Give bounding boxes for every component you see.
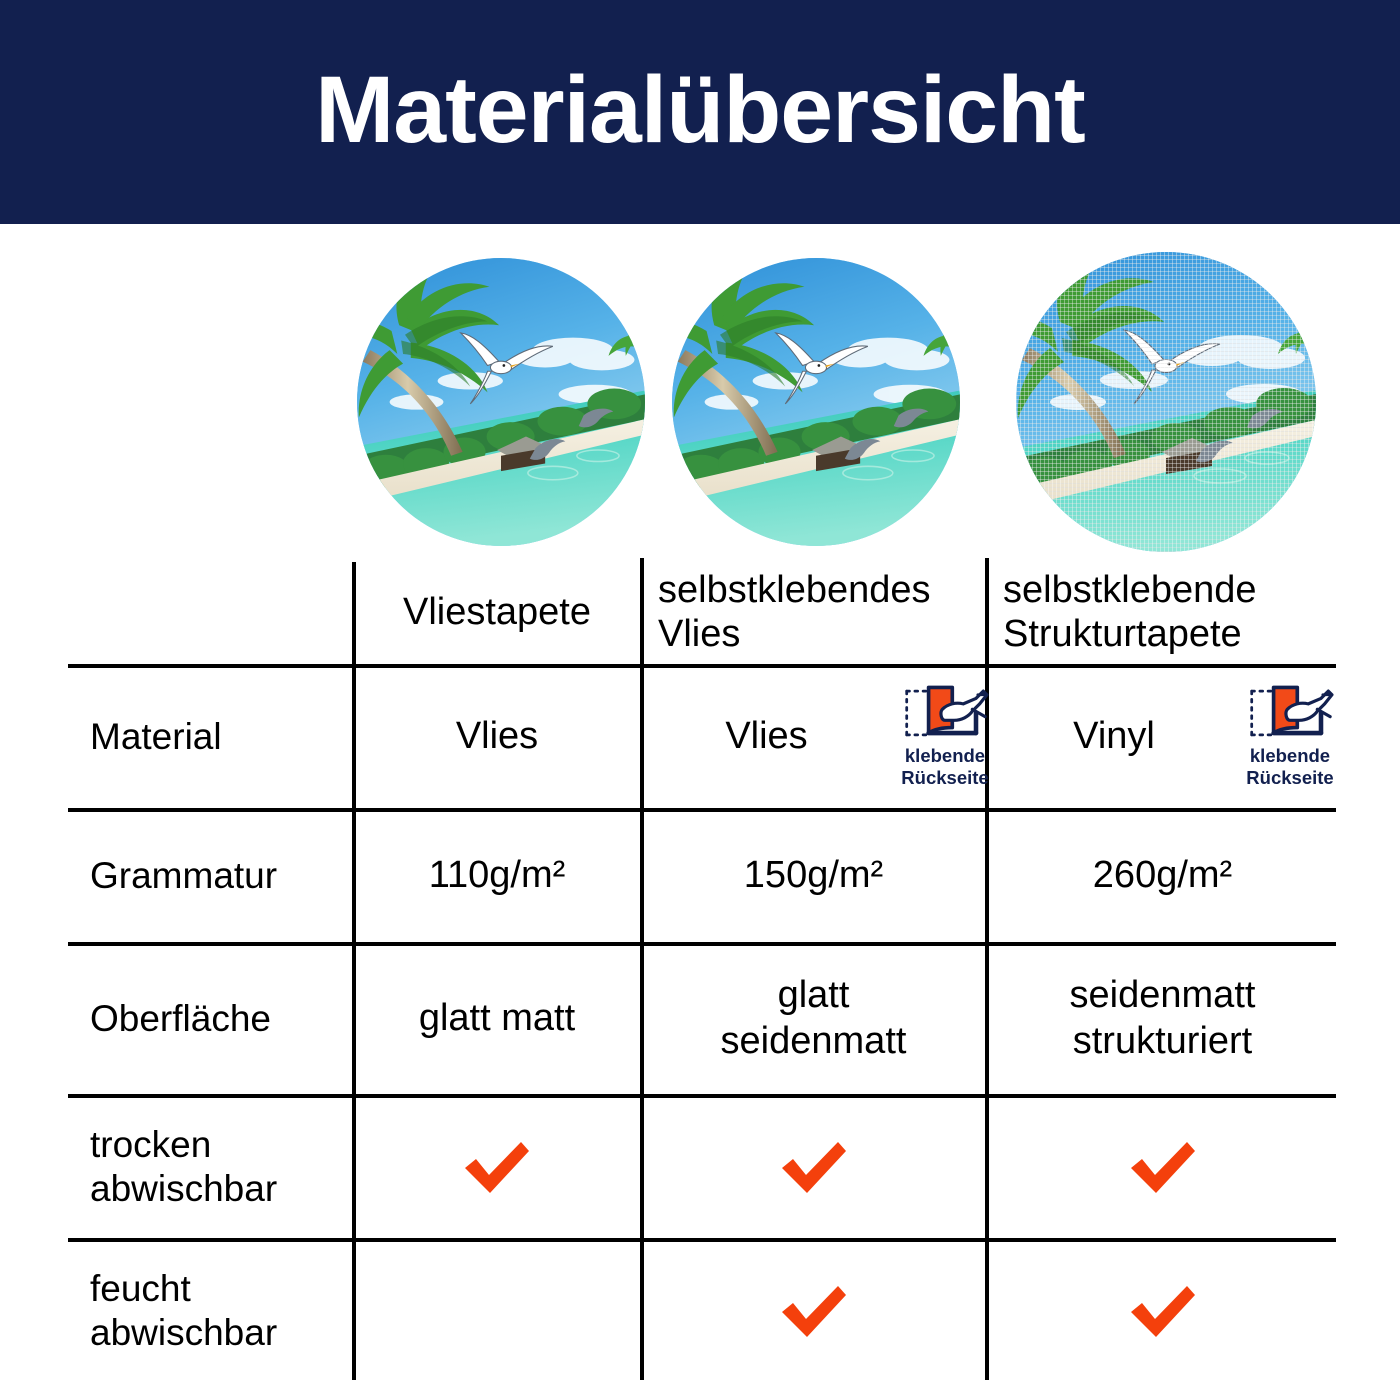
- sample-circle-strukturtapete: [1016, 252, 1316, 552]
- peeling-sheet-hand-icon: [1244, 682, 1336, 744]
- row-label-line1: trocken: [90, 1123, 277, 1167]
- beach-photo-illustration: [672, 258, 960, 546]
- cell-trocken-vliestapete: [356, 1098, 638, 1236]
- cell-value-line1: seidenmatt: [1070, 973, 1256, 1019]
- badge-line2: Rückseite: [891, 767, 999, 788]
- cell-value-line1: glatt: [721, 973, 907, 1019]
- row-label-text: Material: [90, 715, 222, 759]
- beach-photo-illustration: [357, 258, 645, 546]
- badge-line1: klebende: [891, 745, 999, 766]
- cell-feucht-selbstklebendes-vlies: [644, 1242, 983, 1380]
- row-label-line1: feucht: [90, 1267, 277, 1311]
- cell-trocken-strukturtapete: [989, 1098, 1336, 1236]
- column-header-line1: selbstklebendes: [658, 568, 931, 612]
- cell-feucht-vliestapete: [356, 1242, 638, 1380]
- check-icon: [1126, 1281, 1200, 1341]
- column-header-line2: Vlies: [658, 612, 931, 656]
- sample-circle-vliestapete: [357, 258, 645, 546]
- cell-value-line2: seidenmatt: [721, 1019, 907, 1065]
- row-label-text: Oberfläche: [90, 997, 271, 1041]
- row-label-line2: abwischbar: [90, 1167, 277, 1211]
- sample-circles-row: [0, 0, 1400, 300]
- row-label-trocken-abwischbar: trocken abwischbar: [68, 1098, 350, 1236]
- column-header-strukturtapete: selbstklebende Strukturtapete: [989, 562, 1336, 662]
- row-label-oberflaeche: Oberfläche: [68, 946, 350, 1092]
- cell-value: glatt matt: [419, 996, 575, 1042]
- cell-material-vliestapete: Vlies: [356, 668, 638, 806]
- row-label-line2: abwischbar: [90, 1311, 277, 1355]
- sample-circle-selbstklebendes-vlies: [672, 258, 960, 546]
- row-label-text: Grammatur: [90, 854, 277, 898]
- column-header-label: Vliestapete: [403, 590, 591, 634]
- cell-feucht-strukturtapete: [989, 1242, 1336, 1380]
- cell-value: 110g/m²: [429, 853, 566, 899]
- cell-material-selbstklebendes-vlies: Vlies: [644, 668, 889, 806]
- column-header-line2: Strukturtapete: [1003, 612, 1257, 656]
- cell-value: Vlies: [725, 714, 807, 760]
- badge-line2: Rückseite: [1236, 767, 1344, 788]
- cell-oberflaeche-strukturtapete: seidenmatt strukturiert: [989, 946, 1336, 1092]
- cell-oberflaeche-selbstklebendes-vlies: glatt seidenmatt: [644, 946, 983, 1092]
- cell-trocken-selbstklebendes-vlies: [644, 1098, 983, 1236]
- check-icon: [460, 1137, 534, 1197]
- cell-value: 150g/m²: [744, 853, 883, 899]
- row-label-grammatur: Grammatur: [68, 812, 350, 940]
- badge-line1: klebende: [1236, 745, 1344, 766]
- check-icon: [777, 1281, 851, 1341]
- check-icon: [1126, 1137, 1200, 1197]
- cell-value-line2: strukturiert: [1070, 1019, 1256, 1065]
- adhesive-backing-badge: klebende Rückseite: [1236, 682, 1344, 788]
- material-comparison-table: Vliestapete selbstklebendes Vlies selbst…: [68, 560, 1336, 1380]
- row-label-material: Material: [68, 668, 350, 806]
- cell-material-strukturtapete: Vinyl: [989, 668, 1239, 806]
- cell-value: Vlies: [456, 714, 538, 760]
- beach-photo-illustration: [1016, 252, 1316, 552]
- column-header-line1: selbstklebende: [1003, 568, 1257, 612]
- cell-value: Vinyl: [1073, 714, 1155, 760]
- check-icon: [777, 1137, 851, 1197]
- column-header-vliestapete: Vliestapete: [356, 562, 638, 662]
- adhesive-backing-badge: klebende Rückseite: [891, 682, 999, 788]
- cell-grammatur-vliestapete: 110g/m²: [356, 812, 638, 940]
- cell-grammatur-strukturtapete: 260g/m²: [989, 812, 1336, 940]
- row-label-feucht-abwischbar: feucht abwischbar: [68, 1242, 350, 1380]
- peeling-sheet-hand-icon: [899, 682, 991, 744]
- cell-grammatur-selbstklebendes-vlies: 150g/m²: [644, 812, 983, 940]
- column-header-selbstklebendes-vlies: selbstklebendes Vlies: [644, 562, 983, 662]
- cell-oberflaeche-vliestapete: glatt matt: [356, 946, 638, 1092]
- cell-value: 260g/m²: [1093, 853, 1232, 899]
